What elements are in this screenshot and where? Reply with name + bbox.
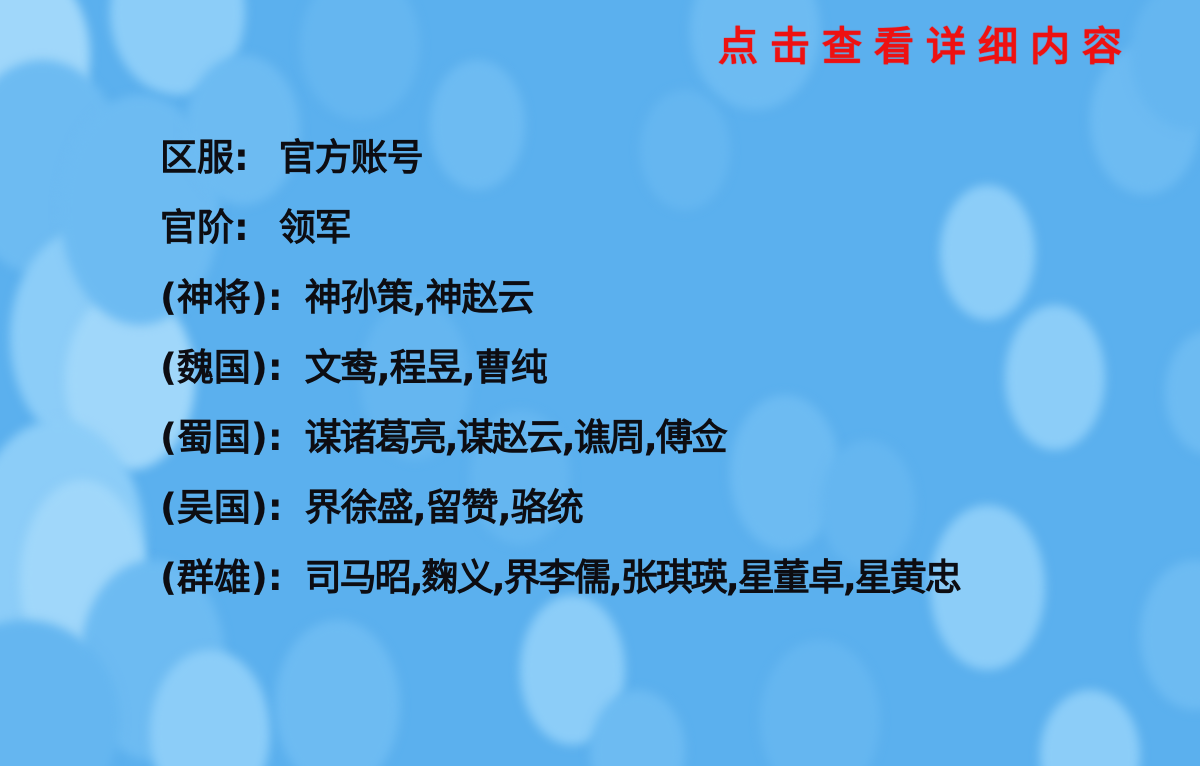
info-label-rank: 官阶: xyxy=(160,206,249,250)
info-value-rank: 领军 xyxy=(279,206,351,250)
info-label-server: 区服: xyxy=(160,136,249,180)
bokeh-ellipse xyxy=(10,230,160,445)
info-label-warlords: (群雄): xyxy=(160,556,283,600)
info-value-warlords: 司马昭,麴义,界李儒,张琪瑛,星董卓,星黄忠 xyxy=(305,556,960,600)
bokeh-ellipse xyxy=(300,0,420,120)
info-value-wu: 界徐盛,留赞,骆统 xyxy=(305,486,583,530)
bokeh-ellipse xyxy=(20,480,145,680)
bokeh-ellipse xyxy=(0,60,125,275)
screenshot-root: 点击查看详细内容 区服: 官方账号 官阶: 领军 (神将): 神孙策,神赵云 (… xyxy=(0,0,1200,766)
bokeh-ellipse xyxy=(0,620,120,766)
info-row-shu: (蜀国): 谋诸葛亮,谋赵云,谯周,傅佥 xyxy=(160,416,1160,486)
info-value-wei: 文鸯,程昱,曹纯 xyxy=(305,346,547,390)
page-title[interactable]: 点击查看详细内容 xyxy=(718,27,1134,67)
info-row-wu: (吴国): 界徐盛,留赞,骆统 xyxy=(160,486,1160,556)
info-value-shu: 谋诸葛亮,谋赵云,谯周,傅佥 xyxy=(305,416,726,460)
info-row-divine-generals: (神将): 神孙策,神赵云 xyxy=(160,276,1160,346)
info-row-server: 区服: 官方账号 xyxy=(160,136,1160,206)
bokeh-ellipse xyxy=(1165,330,1200,455)
bokeh-ellipse xyxy=(110,0,245,95)
info-label-wei: (魏国): xyxy=(160,346,283,390)
bokeh-ellipse xyxy=(275,620,400,766)
bokeh-ellipse xyxy=(150,650,270,766)
bokeh-ellipse xyxy=(0,0,90,150)
info-label-wu: (吴国): xyxy=(160,486,283,530)
character-info-list: 区服: 官方账号 官阶: 领军 (神将): 神孙策,神赵云 (魏国): 文鸯,程… xyxy=(160,136,1160,626)
bokeh-ellipse xyxy=(590,690,685,766)
info-value-divine-generals: 神孙策,神赵云 xyxy=(305,276,534,320)
info-label-divine-generals: (神将): xyxy=(160,276,283,320)
bokeh-ellipse xyxy=(0,420,145,670)
bokeh-ellipse xyxy=(1040,690,1140,766)
info-row-rank: 官阶: 领军 xyxy=(160,206,1160,276)
info-row-warlords: (群雄): 司马昭,麴义,界李儒,张琪瑛,星董卓,星黄忠 xyxy=(160,556,1160,626)
info-row-wei: (魏国): 文鸯,程昱,曹纯 xyxy=(160,346,1160,416)
bokeh-ellipse xyxy=(1130,0,1200,130)
bokeh-ellipse xyxy=(760,640,880,766)
info-value-server: 官方账号 xyxy=(279,136,423,180)
info-label-shu: (蜀国): xyxy=(160,416,283,460)
